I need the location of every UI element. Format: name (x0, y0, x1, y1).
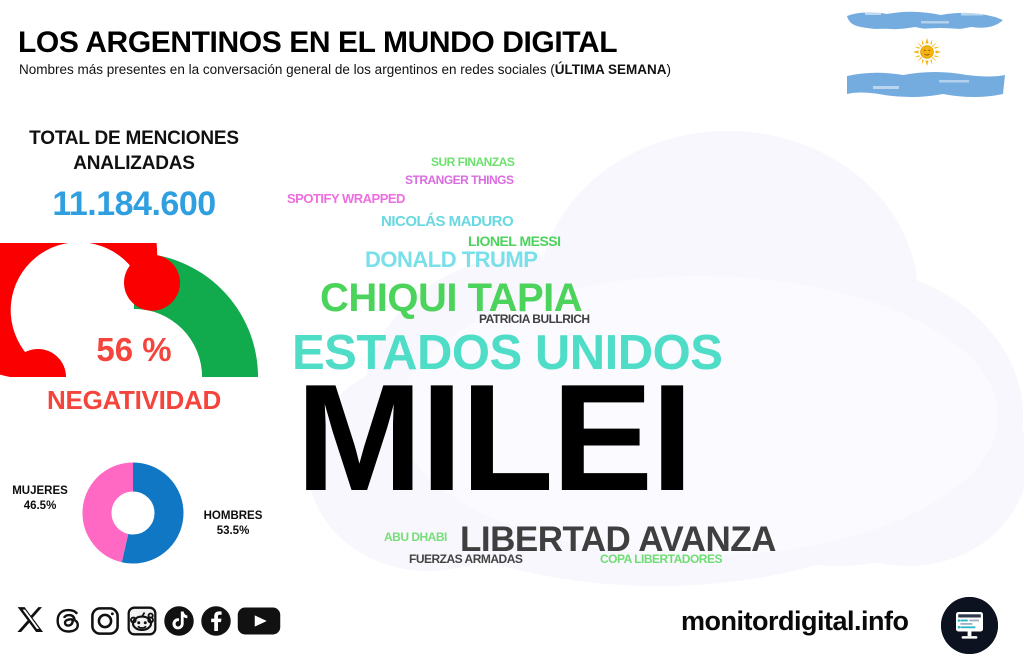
total-mentions-value: 11.184.600 (0, 185, 268, 224)
instagram-icon[interactable] (88, 604, 122, 643)
subtitle-emphasis: ÚLTIMA SEMANA (555, 62, 667, 77)
facebook-icon[interactable] (199, 604, 233, 643)
word-cloud-item: ABU DHABI (384, 531, 447, 543)
word-cloud-item: PATRICIA BULLRICH (479, 313, 590, 325)
youtube-icon[interactable] (236, 604, 282, 643)
total-mentions-label-line2: ANALIZADAS (0, 151, 268, 176)
word-cloud-item: LIONEL MESSI (468, 234, 561, 248)
x-twitter-icon[interactable] (14, 604, 48, 643)
donut-label-mujeres-name: MUJERES (2, 484, 78, 499)
word-cloud-item: MILEI (296, 362, 691, 514)
brand-name[interactable]: monitordigital.info (681, 606, 908, 637)
word-cloud-item: SUR FINANZAS (431, 156, 514, 168)
word-cloud-item: STRANGER THINGS (405, 174, 514, 186)
word-cloud-item: SPOTIFY WRAPPED (287, 192, 405, 205)
donut-label-mujeres: MUJERES 46.5% (2, 484, 78, 514)
gender-donut-chart (82, 462, 184, 564)
infographic-canvas: LOS ARGENTINOS EN EL MUNDO DIGITAL Nombr… (0, 0, 1024, 660)
threads-icon[interactable] (51, 604, 85, 643)
donut-label-hombres-name: HOMBRES (192, 509, 274, 524)
total-mentions-label: TOTAL DE MENCIONES ANALIZADAS (0, 126, 268, 176)
donut-label-mujeres-value: 46.5% (2, 499, 78, 514)
sun-of-may-icon (913, 38, 941, 66)
word-cloud-item: FUERZAS ARMADAS (409, 553, 522, 565)
social-icons-row (14, 604, 282, 643)
page-title: LOS ARGENTINOS EN EL MUNDO DIGITAL (18, 26, 617, 60)
subtitle-suffix: ) (667, 62, 672, 77)
word-cloud: SUR FINANZASSTRANGER THINGSSPOTIFY WRAPP… (278, 116, 1024, 594)
subtitle-prefix: Nombres más presentes en la conversación… (19, 62, 555, 77)
word-cloud-item: COPA LIBERTADORES (600, 553, 722, 565)
gauge-cap-end (124, 255, 180, 311)
word-cloud-item: DONALD TRUMP (365, 249, 537, 271)
word-cloud-item: NICOLÁS MADURO (381, 214, 513, 229)
reddit-icon[interactable] (125, 604, 159, 643)
argentina-flag-icon (843, 6, 1011, 106)
gauge-caption: NEGATIVIDAD (0, 385, 268, 416)
page-subtitle: Nombres más presentes en la conversación… (19, 62, 671, 77)
donut-label-hombres-value: 53.5% (192, 524, 274, 539)
gauge-value-text: 56 % (0, 331, 268, 369)
monitor-logo-icon[interactable] (941, 597, 998, 654)
total-mentions-label-line1: TOTAL DE MENCIONES (0, 126, 268, 151)
donut-label-hombres: HOMBRES 53.5% (192, 509, 274, 539)
tiktok-icon[interactable] (162, 604, 196, 643)
